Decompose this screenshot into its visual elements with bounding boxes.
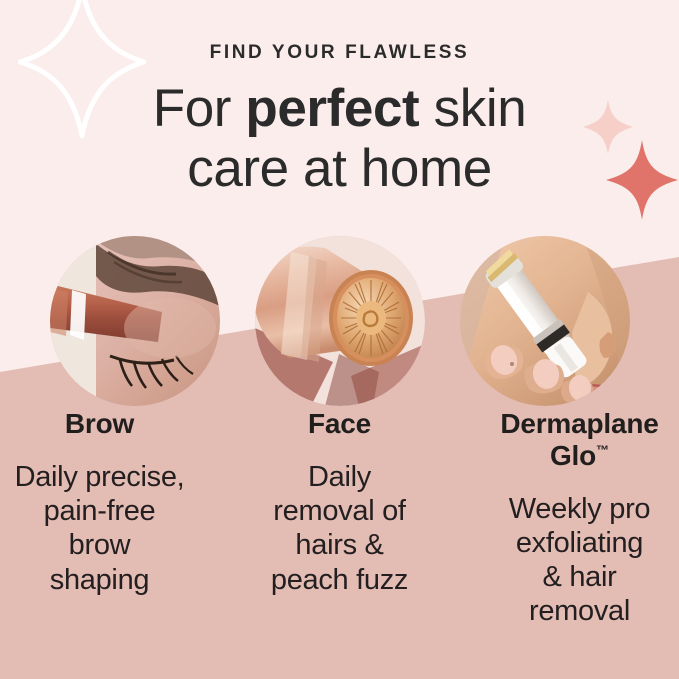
header: FIND YOUR FLAWLESS For perfect skin care… [0, 0, 679, 200]
feature-description-dermaplane-glo: Weekly pro exfoliating & hair removal [477, 492, 679, 629]
desc-line: Daily precise, [0, 460, 202, 494]
feature-column-face: Face Daily removal of hairs & peach fuzz [237, 408, 442, 629]
desc-line: peach fuzz [237, 563, 442, 597]
desc-line: removal of [237, 494, 442, 528]
feature-columns: Brow Daily precise, pain-free brow shapi… [0, 408, 679, 629]
headline-word-for: For [153, 79, 246, 138]
feature-label-brow: Brow [0, 408, 202, 440]
feature-label-dermaplane-glo: Dermaplane Glo™ [477, 408, 679, 472]
desc-line: brow [0, 528, 202, 562]
headline-line-2: care at home [0, 139, 679, 199]
desc-line: shaping [0, 563, 202, 597]
feature-column-brow: Brow Daily precise, pain-free brow shapi… [0, 408, 202, 629]
label-line-2: Glo [550, 440, 596, 471]
photo-brow [50, 236, 220, 406]
desc-line: & hair [477, 560, 679, 594]
headline-word-perfect: perfect [245, 79, 419, 138]
photo-dermaplane-glo [460, 236, 630, 406]
desc-line: removal [477, 594, 679, 628]
infographic-page: FIND YOUR FLAWLESS For perfect skin care… [0, 0, 679, 679]
product-photos [0, 236, 679, 406]
photo-face [255, 236, 425, 406]
feature-column-dermaplane-glo: Dermaplane Glo™ Weekly pro exfoliating &… [477, 408, 679, 629]
desc-line: hairs & [237, 528, 442, 562]
label-line-1: Dermaplane [500, 408, 658, 439]
desc-line: Daily [237, 460, 442, 494]
feature-description-face: Daily removal of hairs & peach fuzz [237, 460, 442, 597]
desc-line: exfoliating [477, 526, 679, 560]
kicker-text: FIND YOUR FLAWLESS [0, 42, 679, 65]
desc-line: Weekly pro [477, 492, 679, 526]
trademark-symbol: ™ [596, 443, 609, 458]
headline: For perfect skin care at home [0, 79, 679, 200]
feature-label-face: Face [237, 408, 442, 440]
desc-line: pain-free [0, 494, 202, 528]
headline-line-1: For perfect skin [0, 79, 679, 139]
headline-word-skin: skin [419, 79, 526, 138]
feature-description-brow: Daily precise, pain-free brow shaping [0, 460, 202, 597]
